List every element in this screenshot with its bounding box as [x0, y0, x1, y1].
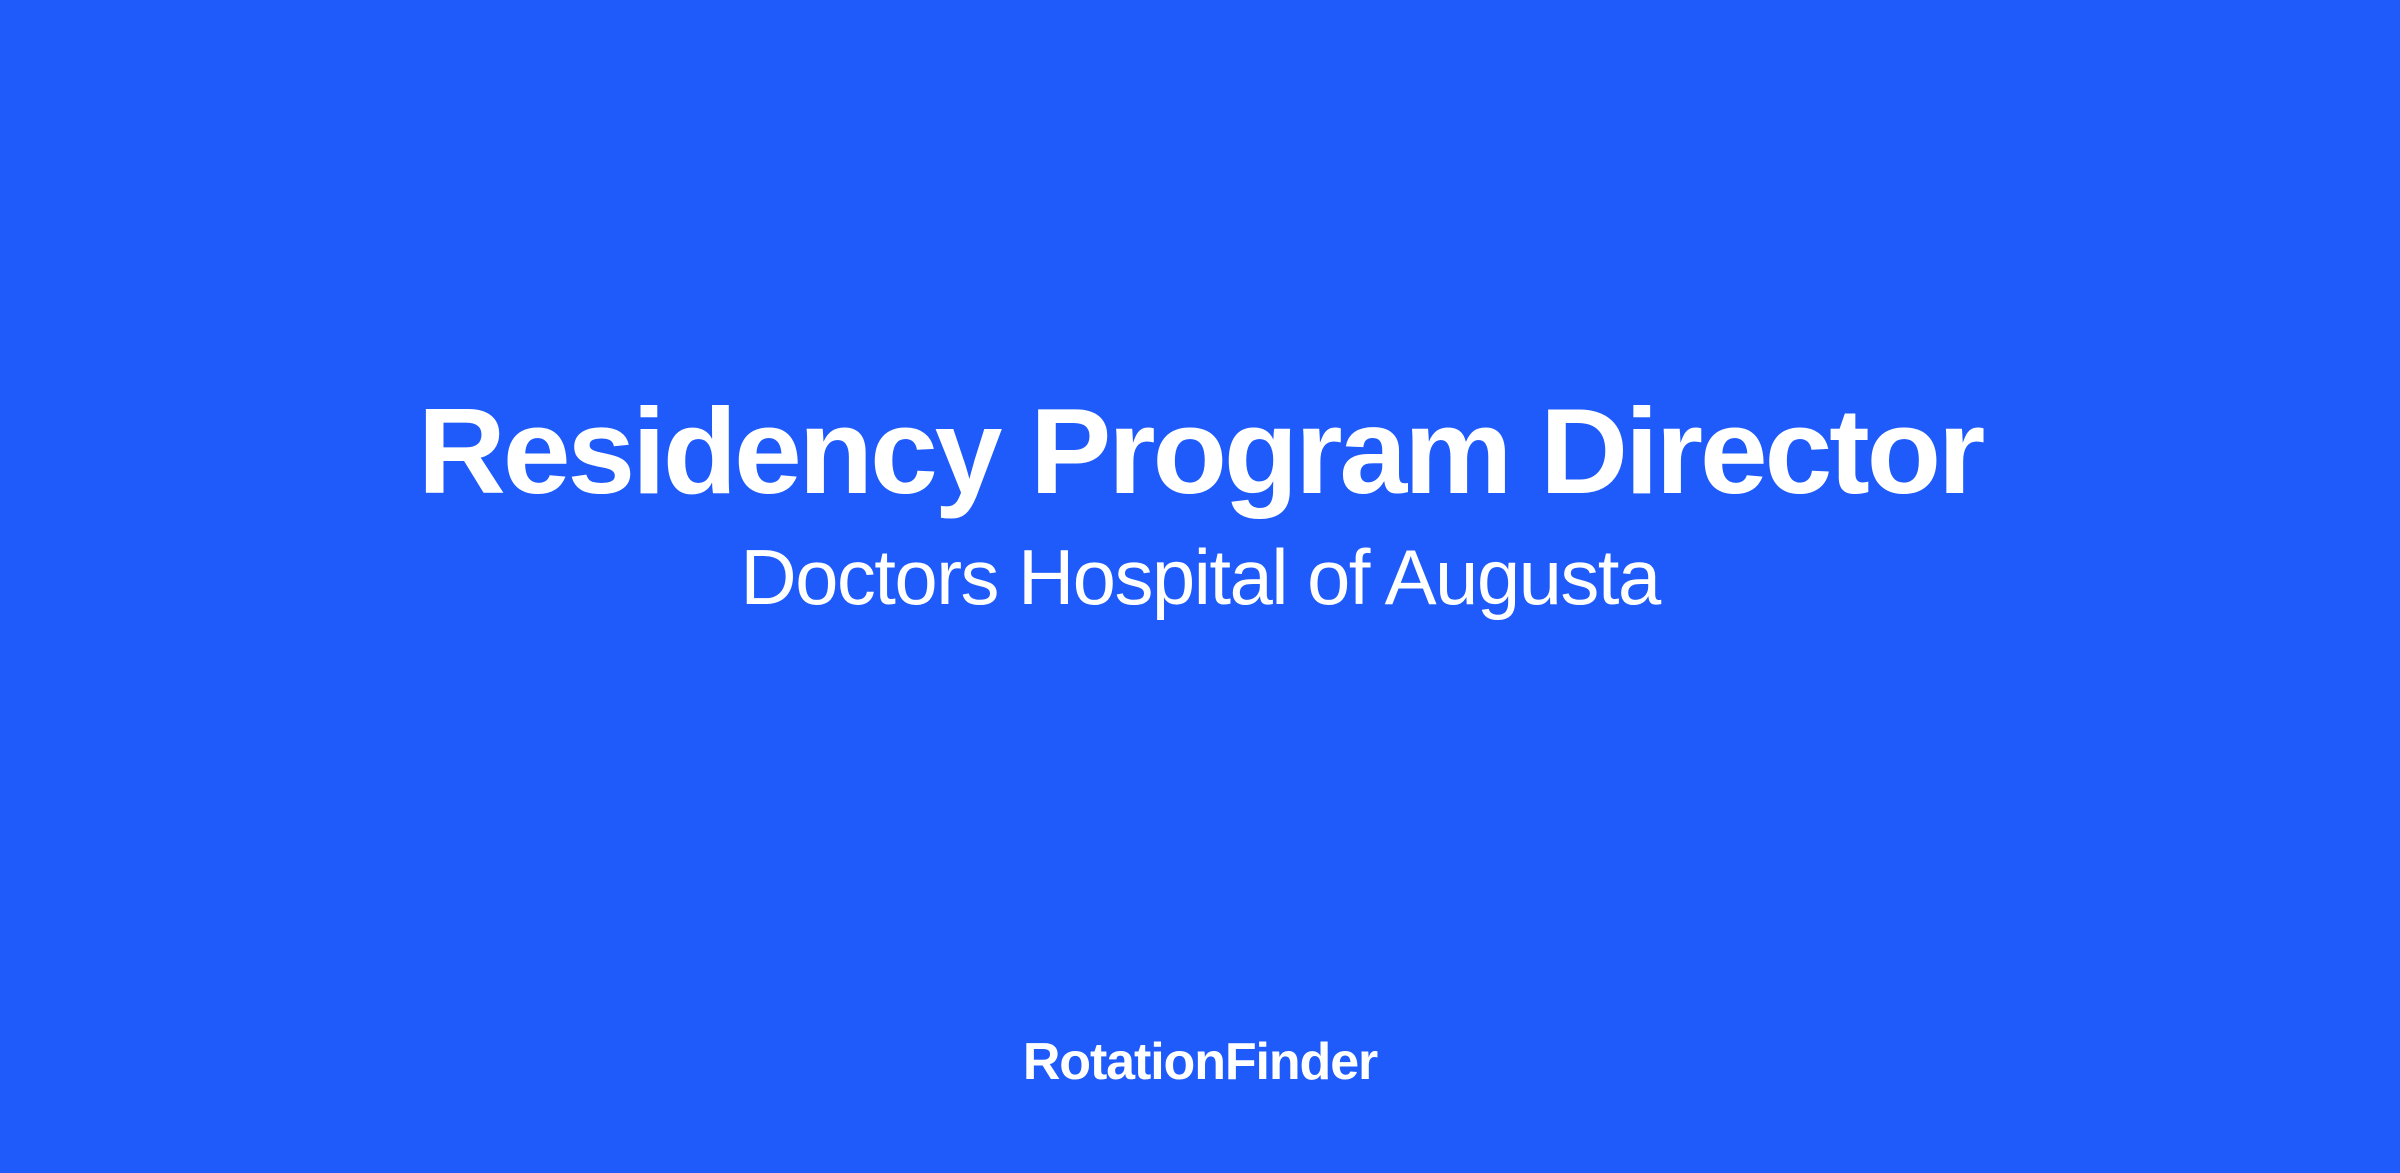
hero-block: Residency Program Director Doctors Hospi…	[0, 390, 2400, 616]
brand-wordmark: RotationFinder	[1023, 1036, 1377, 1088]
page-title: Residency Program Director	[418, 390, 1982, 512]
page-subtitle: Doctors Hospital of Augusta	[740, 512, 1659, 616]
share-card: Residency Program Director Doctors Hospi…	[0, 0, 2400, 1173]
brand-footer: RotationFinder	[0, 1036, 2400, 1088]
